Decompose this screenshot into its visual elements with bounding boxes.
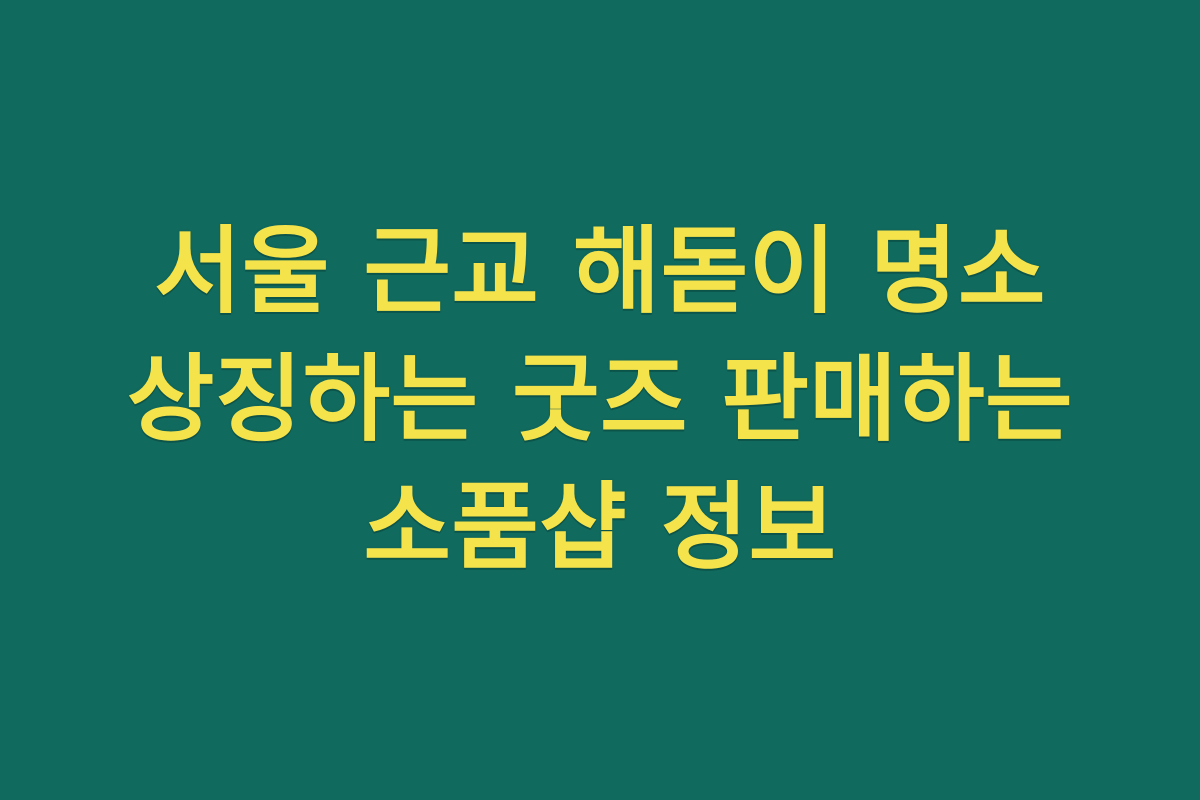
banner-canvas: 서울 근교 해돋이 명소 상징하는 굿즈 판매하는 소품샵 정보 (0, 0, 1200, 800)
banner-title-block: 서울 근교 해돋이 명소 상징하는 굿즈 판매하는 소품샵 정보 (30, 208, 1170, 592)
title-line-1: 서울 근교 해돋이 명소 (30, 208, 1170, 336)
title-line-2: 상징하는 굿즈 판매하는 (30, 336, 1170, 464)
title-line-3: 소품샵 정보 (30, 464, 1170, 592)
